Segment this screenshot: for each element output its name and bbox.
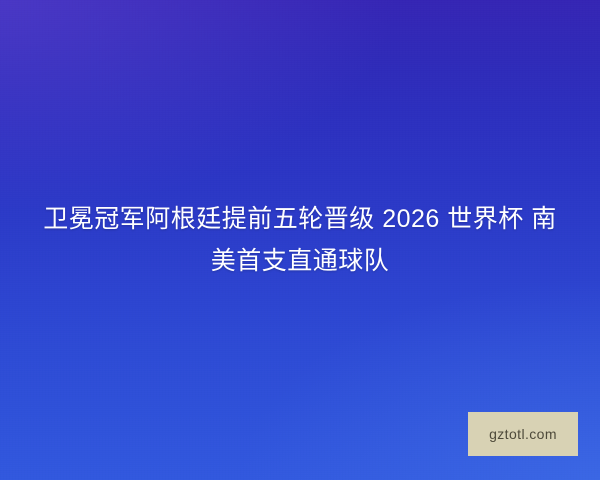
watermark-label: gztotl.com xyxy=(489,426,557,442)
watermark-badge: gztotl.com xyxy=(468,412,578,456)
poster-headline: 卫冕冠军阿根廷提前五轮晋级 2026 世界杯 南美首支直通球队 xyxy=(0,198,600,282)
poster-canvas: 卫冕冠军阿根廷提前五轮晋级 2026 世界杯 南美首支直通球队 gztotl.c… xyxy=(0,0,600,480)
